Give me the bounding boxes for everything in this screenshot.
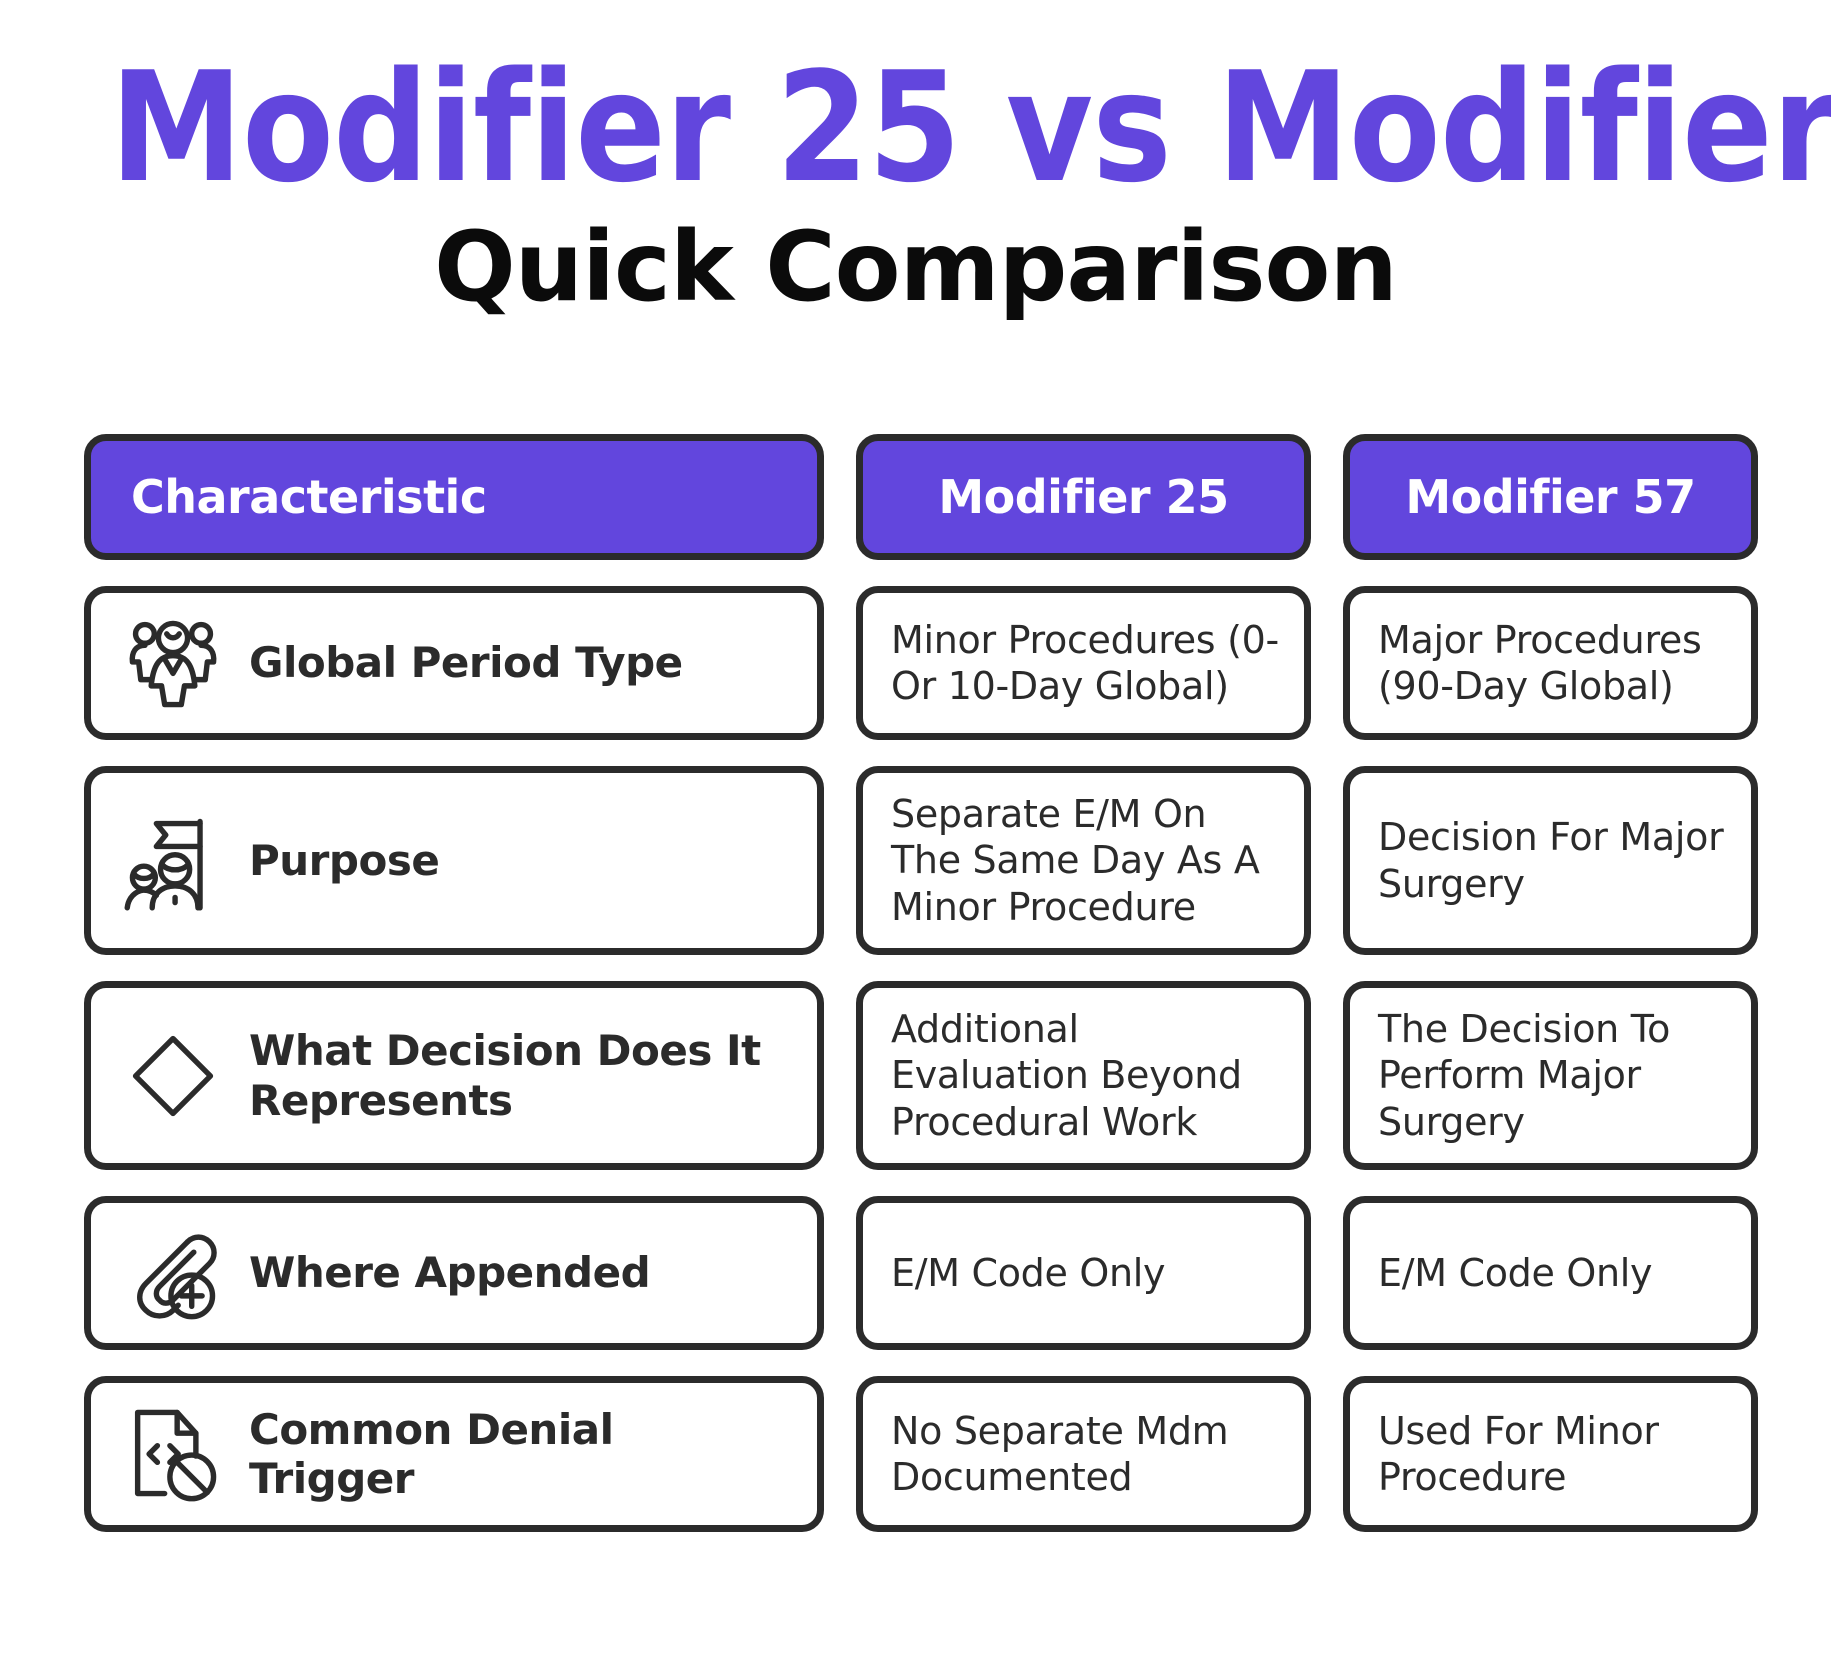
row-modifier-57-cell: Decision For Major Surgery (1343, 766, 1758, 955)
modifier-25-value: Separate E/M On The Same Day As A Minor … (891, 791, 1280, 930)
header-label-modifier-57: Modifier 57 (1405, 470, 1695, 524)
modifier-57-value: Used For Minor Procedure (1378, 1408, 1727, 1501)
characteristic-label: Common Denial Trigger (249, 1405, 791, 1504)
table-header-row: Characteristic Modifier 25 Modifier 57 (84, 434, 1756, 560)
row-characteristic-cell: Global Period Type (84, 586, 824, 740)
row-characteristic-cell: What Decision Does It Represents (84, 981, 824, 1170)
header-label-modifier-25: Modifier 25 (938, 470, 1228, 524)
header-label-characteristic: Characteristic (131, 470, 487, 524)
header-cell-modifier-25: Modifier 25 (856, 434, 1311, 560)
characteristic-label: Purpose (249, 836, 439, 886)
table-row: Common Denial Trigger No Separate Mdm Do… (84, 1376, 1756, 1532)
modifier-25-value: E/M Code Only (891, 1250, 1165, 1296)
infographic-page: Modifier 25 vs Modifier 57 Quick Compari… (0, 0, 1831, 1668)
modifier-25-value: Additional Evaluation Beyond Procedural … (891, 1006, 1280, 1145)
page-subtitle: Quick Comparison (0, 212, 1831, 322)
row-modifier-57-cell: E/M Code Only (1343, 1196, 1758, 1350)
row-modifier-25-cell: Additional Evaluation Beyond Procedural … (856, 981, 1311, 1170)
row-modifier-25-cell: Minor Procedures (0- Or 10-Day Global) (856, 586, 1311, 740)
modifier-57-value: E/M Code Only (1378, 1250, 1652, 1296)
row-characteristic-cell: Where Appended (84, 1196, 824, 1350)
characteristic-label: What Decision Does It Represents (249, 1026, 791, 1125)
header-cell-characteristic: Characteristic (84, 434, 824, 560)
row-modifier-57-cell: Major Procedures (90-Day Global) (1343, 586, 1758, 740)
row-modifier-57-cell: The Decision To Perform Major Surgery (1343, 981, 1758, 1170)
modifier-57-value: Decision For Major Surgery (1378, 814, 1727, 907)
table-row: What Decision Does It Represents Additio… (84, 981, 1756, 1170)
diamond-outline-icon (121, 1024, 225, 1128)
row-modifier-25-cell: Separate E/M On The Same Day As A Minor … (856, 766, 1311, 955)
people-group-icon (121, 611, 225, 715)
title-block: Modifier 25 vs Modifier 57 Quick Compari… (0, 0, 1831, 322)
code-document-blocked-icon (121, 1402, 225, 1506)
paperclip-plus-icon (121, 1221, 225, 1325)
modifier-57-value: The Decision To Perform Major Surgery (1378, 1006, 1727, 1145)
row-modifier-57-cell: Used For Minor Procedure (1343, 1376, 1758, 1532)
modifier-25-value: No Separate Mdm Documented (891, 1408, 1280, 1501)
row-modifier-25-cell: E/M Code Only (856, 1196, 1311, 1350)
row-characteristic-cell: Common Denial Trigger (84, 1376, 824, 1532)
modifier-25-value: Minor Procedures (0- Or 10-Day Global) (891, 617, 1280, 710)
table-row: Global Period Type Minor Procedures (0- … (84, 586, 1756, 740)
header-cell-modifier-57: Modifier 57 (1343, 434, 1758, 560)
modifier-57-value: Major Procedures (90-Day Global) (1378, 617, 1727, 710)
page-title: Modifier 25 vs Modifier 57 (110, 52, 1721, 204)
table-row: Purpose Separate E/M On The Same Day As … (84, 766, 1756, 955)
comparison-table: Characteristic Modifier 25 Modifier 57 (84, 434, 1756, 1558)
row-modifier-25-cell: No Separate Mdm Documented (856, 1376, 1311, 1532)
characteristic-label: Where Appended (249, 1248, 650, 1298)
characteristic-label: Global Period Type (249, 638, 683, 688)
table-row: Where Appended E/M Code Only E/M Code On… (84, 1196, 1756, 1350)
team-flag-goal-icon (121, 809, 225, 913)
row-characteristic-cell: Purpose (84, 766, 824, 955)
